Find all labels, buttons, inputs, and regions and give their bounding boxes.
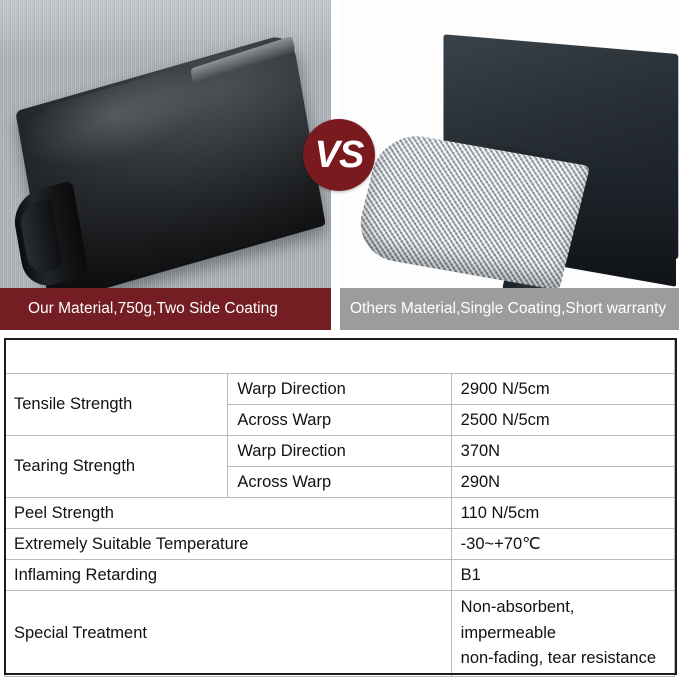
our-material-caption: Our Material,750g,Two Side Coating [0,288,331,330]
row-label-inflaming-retarding: Inflaming Retarding [5,560,452,591]
row-value-tensile-across: 2500 N/5cm [451,405,674,436]
single-coated-sheet [344,40,676,280]
product-parameters-table-wrap: Product Parameters Tensile Strength Warp… [4,338,675,677]
row-value-tearing-across: 290N [451,467,674,498]
black-tarpaulin-sheet [0,47,329,288]
product-parameters-table: Product Parameters Tensile Strength Warp… [4,338,675,677]
table-row: Extremely Suitable Temperature -30~+70℃ [5,529,675,560]
our-material-photo [0,0,331,288]
table-row: Tensile Strength Warp Direction 2900 N/5… [5,374,675,405]
table-row: Tearing Strength Warp Direction 370N [5,436,675,467]
row-value-peel-strength: 110 N/5cm [451,498,674,529]
row-value-inflaming-retarding: B1 [451,560,674,591]
row-value-tensile-warp: 2900 N/5cm [451,374,674,405]
others-material-caption: Others Material,Single Coating,Short war… [340,288,679,330]
row-sub-across-warp: Across Warp [228,467,451,498]
row-label-peel-strength: Peel Strength [5,498,452,529]
row-sub-warp-direction: Warp Direction [228,436,451,467]
row-sub-warp-direction: Warp Direction [228,374,451,405]
product-comparison-page: Our Material,750g,Two Side Coating Other… [0,0,679,675]
comparison-section: Our Material,750g,Two Side Coating Other… [0,0,679,330]
vs-badge: VS [303,119,375,191]
table-row: Inflaming Retarding B1 [5,560,675,591]
table-row: Peel Strength 110 N/5cm [5,498,675,529]
row-value-tearing-warp: 370N [451,436,674,467]
table-row: Special Treatment Non-absorbent, imperme… [5,591,675,677]
row-label-suitable-temperature: Extremely Suitable Temperature [5,529,452,560]
our-material-panel: Our Material,750g,Two Side Coating [0,0,331,330]
special-treatment-line-1: Non-absorbent, impermeable [461,595,665,646]
others-material-photo [340,0,679,288]
row-label-special-treatment: Special Treatment [5,591,452,677]
special-treatment-line-2: non-fading, tear resistance [461,646,665,672]
table-header-row: Product Parameters [5,339,675,374]
row-sub-across-warp: Across Warp [228,405,451,436]
row-label-tearing-strength: Tearing Strength [5,436,228,498]
row-value-special-treatment: Non-absorbent, impermeable non-fading, t… [451,591,674,677]
table-title: Product Parameters [5,339,675,374]
row-value-suitable-temperature: -30~+70℃ [451,529,674,560]
row-label-tensile-strength: Tensile Strength [5,374,228,436]
others-material-panel: Others Material,Single Coating,Short war… [340,0,679,330]
